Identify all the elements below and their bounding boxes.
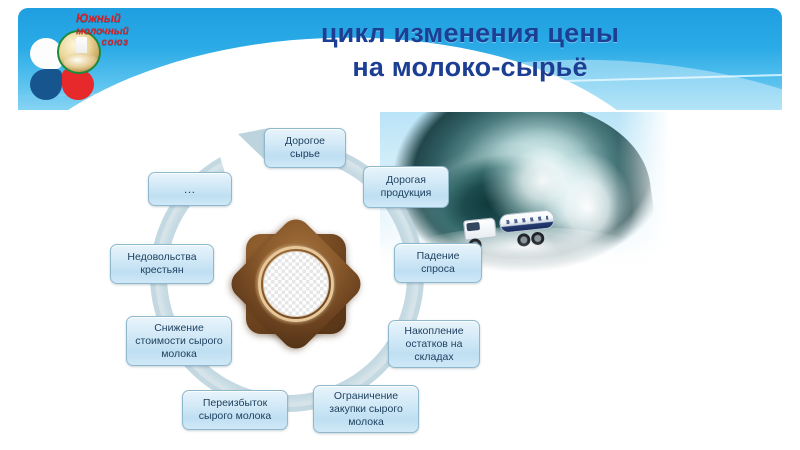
cycle-node-nakoplenie-ostatkov[interactable]: Накопление остатков на складах [388,320,480,368]
page-title-line-2: на молоко-сырьё [210,50,730,84]
gear-center-hole [263,251,329,317]
logo[interactable]: Южный молочный союз [30,10,150,98]
gear-icon [240,228,352,340]
cycle-node-pereizbytok[interactable]: Переизбыток сырого молока [182,390,288,430]
cycle-node-padenie-sprosa[interactable]: Падение спроса [394,243,482,283]
logo-wordmark: Южный молочный союз [76,12,154,49]
cycle-node-dorogaya-produkciya[interactable]: Дорогая продукция [363,166,449,208]
cycle-node-ellipsis[interactable]: … [148,172,232,206]
logo-word-3: союз [76,37,154,49]
cycle-node-snizhenie-stoimosti[interactable]: Снижение стоимости сырого молока [126,316,232,366]
cycle-node-nedovolstva-krestyan[interactable]: Недовольства крестьян [110,244,214,284]
page-title-line-1: цикл изменения цены [210,16,730,50]
wave-fade-right [618,112,680,287]
slide: Дорогое сырье Дорогая продукция Падение … [0,0,800,450]
logo-word-2: молочный [76,25,154,37]
cow-icon [64,53,98,70]
cycle-node-dorogoe-syre[interactable]: Дорогое сырье [264,128,346,168]
truck-window [466,222,480,231]
logo-quadrant-blue [30,69,62,100]
page-title: цикл изменения цены на молоко-сырьё [210,16,730,84]
truck-tank [499,209,556,234]
logo-word-1: Южный [76,12,154,25]
cycle-node-ogranichenie-zakupki[interactable]: Ограничение закупки сырого молока [313,385,419,433]
